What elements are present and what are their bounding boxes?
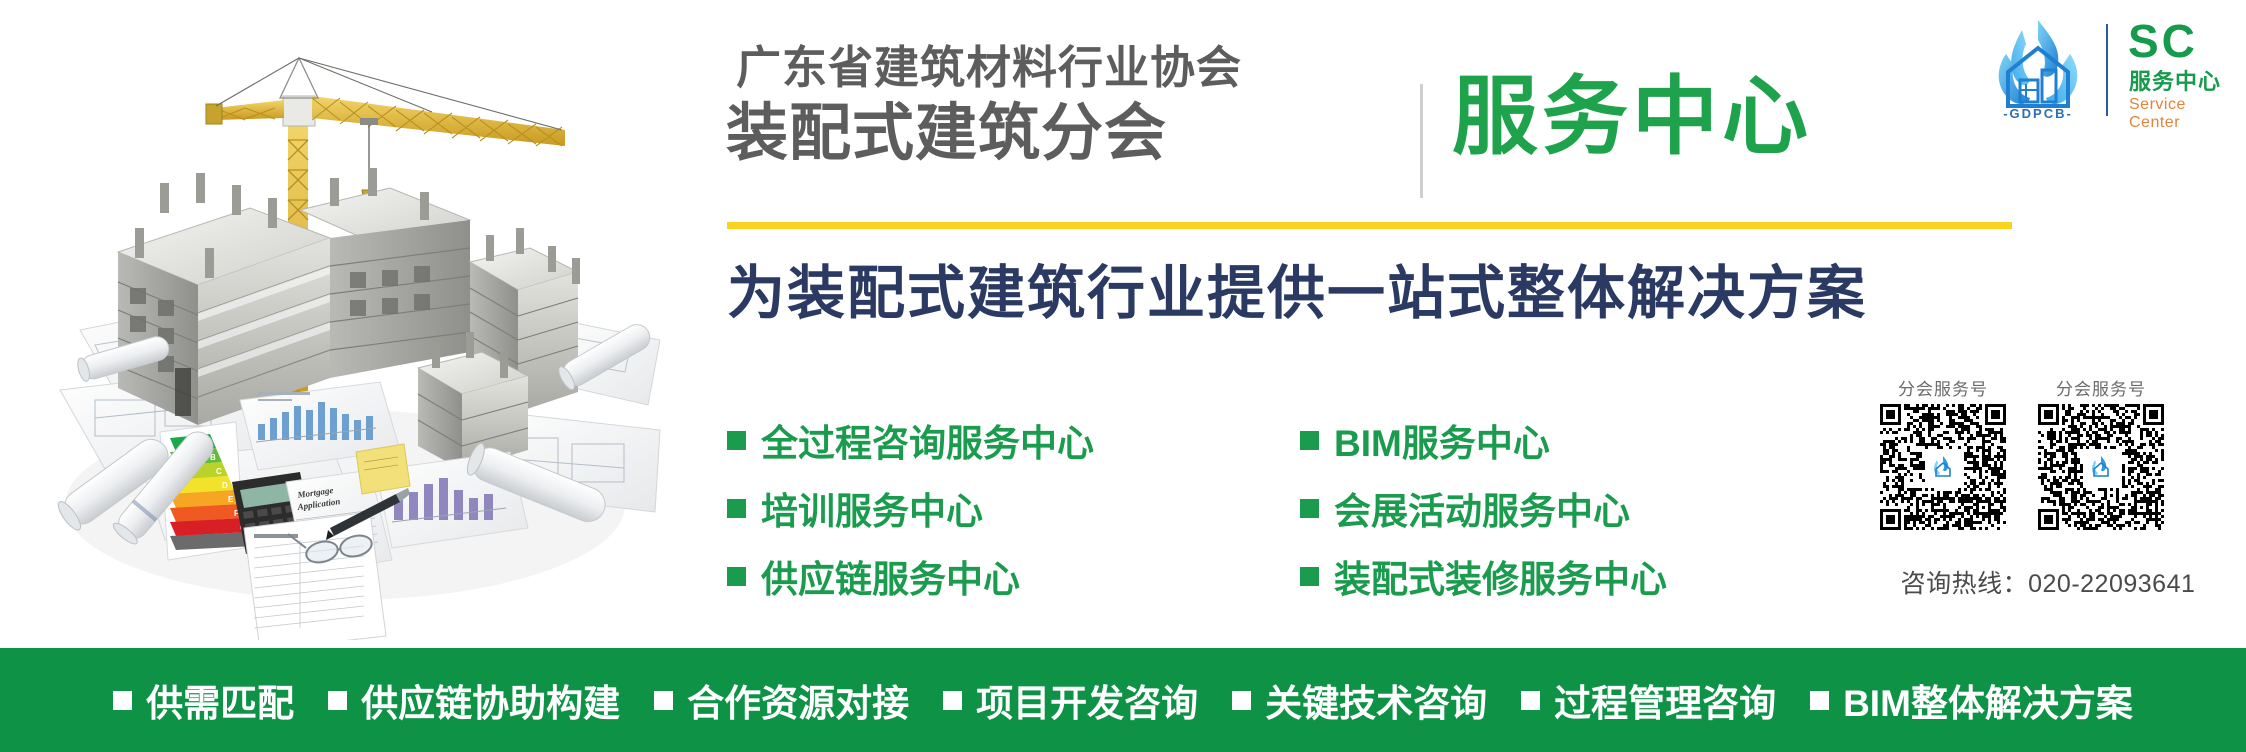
bar-item-label: 供需匹配 (146, 673, 294, 727)
bar-item-gongxu[interactable]: 供需匹配 (113, 673, 294, 727)
service-item-huizhan[interactable]: 会展活动服务中心 (1300, 474, 1667, 542)
construction-site-illustration: ABC DEF GH (0, 0, 690, 640)
service-item-label: 供应链服务中心 (761, 549, 1020, 603)
qr-embedded-logo-icon (2084, 450, 2118, 484)
svg-text:C: C (216, 467, 222, 476)
sc-abbreviation: SC (2128, 18, 2198, 64)
promotional-banner: ABC DEF GH (0, 0, 2246, 752)
service-center-title: 服务中心 (1452, 42, 1812, 192)
square-bullet-icon (113, 691, 132, 710)
brand-logo[interactable]: -GDPCB- SC 服务中心 Service Center (1982, 14, 2234, 124)
square-bullet-icon (943, 691, 962, 710)
square-bullet-icon (654, 691, 673, 710)
svg-text:E: E (228, 495, 234, 504)
square-bullet-icon (727, 567, 746, 586)
square-bullet-icon (328, 691, 347, 710)
logo-caption: -GDPCB- (1982, 106, 2094, 121)
service-item-label: BIM服务中心 (1334, 413, 1550, 467)
association-name-block: 广东省建筑材料行业协会 装配式建筑分会 (726, 40, 1416, 205)
qr-code-area: 分会服务号 分会服务号 (1860, 378, 2236, 593)
gold-divider-line (727, 222, 2012, 229)
service-list-left: 全过程咨询服务中心 培训服务中心 供应链服务中心 (727, 406, 1094, 610)
service-item-label: 全过程咨询服务中心 (761, 413, 1094, 467)
service-item-gongyinglian[interactable]: 供应链服务中心 (727, 542, 1094, 610)
square-bullet-icon (1300, 431, 1319, 450)
square-bullet-icon (1232, 691, 1251, 710)
square-bullet-icon (727, 431, 746, 450)
bottom-bar-items: 供需匹配 供应链协助构建 合作资源对接 项目开发咨询 关键技术咨询 过程管理咨询 (96, 673, 2150, 727)
square-bullet-icon (1521, 691, 1540, 710)
bar-item-xiangmu[interactable]: 项目开发咨询 (943, 673, 1198, 727)
hotline-text: 咨询热线：020-22093641 (1860, 564, 2236, 600)
service-list-right: BIM服务中心 会展活动服务中心 装配式装修服务中心 (1300, 406, 1667, 610)
bar-item-gongyinglian[interactable]: 供应链协助构建 (328, 673, 620, 727)
bar-item-label: 合作资源对接 (687, 673, 909, 727)
square-bullet-icon (1300, 567, 1319, 586)
square-bullet-icon (1810, 691, 1829, 710)
bar-item-label: 供应链协助构建 (361, 673, 620, 727)
service-item-zhuangxiu[interactable]: 装配式装修服务中心 (1300, 542, 1667, 610)
qr-code-icon[interactable] (2038, 404, 2164, 530)
bar-item-label: 过程管理咨询 (1554, 673, 1776, 727)
square-bullet-icon (727, 499, 746, 518)
qr-block-1: 分会服务号 (1868, 378, 2018, 530)
qr-label-1: 分会服务号 (1868, 378, 2018, 402)
service-item-peixun[interactable]: 培训服务中心 (727, 474, 1094, 542)
logo-divider (2106, 24, 2108, 116)
service-item-label: 装配式装修服务中心 (1334, 549, 1667, 603)
bar-item-label: 关键技术咨询 (1265, 673, 1487, 727)
sc-english-label: Service Center (2129, 96, 2234, 132)
bar-item-label: 项目开发咨询 (976, 673, 1198, 727)
qr-embedded-logo-icon (1926, 450, 1960, 484)
bar-item-label: BIM整体解决方案 (1843, 673, 2133, 727)
service-item-label: 培训服务中心 (761, 481, 983, 535)
service-item-quanguocheng[interactable]: 全过程咨询服务中心 (727, 406, 1094, 474)
svg-text:D: D (222, 481, 228, 490)
sc-chinese-label: 服务中心 (2129, 70, 2221, 94)
association-name-line2: 装配式建筑分会 (726, 98, 1416, 170)
association-name-line1: 广东省建筑材料行业协会 (726, 40, 1416, 96)
bar-item-bim[interactable]: BIM整体解决方案 (1810, 673, 2133, 727)
qr-label-2: 分会服务号 (2026, 378, 2176, 402)
qr-code-icon[interactable] (1880, 404, 2006, 530)
header-vertical-divider (1420, 84, 1423, 198)
bar-item-guanjian[interactable]: 关键技术咨询 (1232, 673, 1487, 727)
qr-block-2: 分会服务号 (2026, 378, 2176, 530)
service-item-bim[interactable]: BIM服务中心 (1300, 406, 1667, 474)
bar-item-guocheng[interactable]: 过程管理咨询 (1521, 673, 1776, 727)
square-bullet-icon (1300, 499, 1319, 518)
page-tagline: 为装配式建筑行业提供一站式整体解决方案 (727, 252, 1867, 336)
bottom-service-bar: 供需匹配 供应链协助构建 合作资源对接 项目开发咨询 关键技术咨询 过程管理咨询 (0, 648, 2246, 752)
service-item-label: 会展活动服务中心 (1334, 481, 1630, 535)
bar-item-hezuo[interactable]: 合作资源对接 (654, 673, 909, 727)
